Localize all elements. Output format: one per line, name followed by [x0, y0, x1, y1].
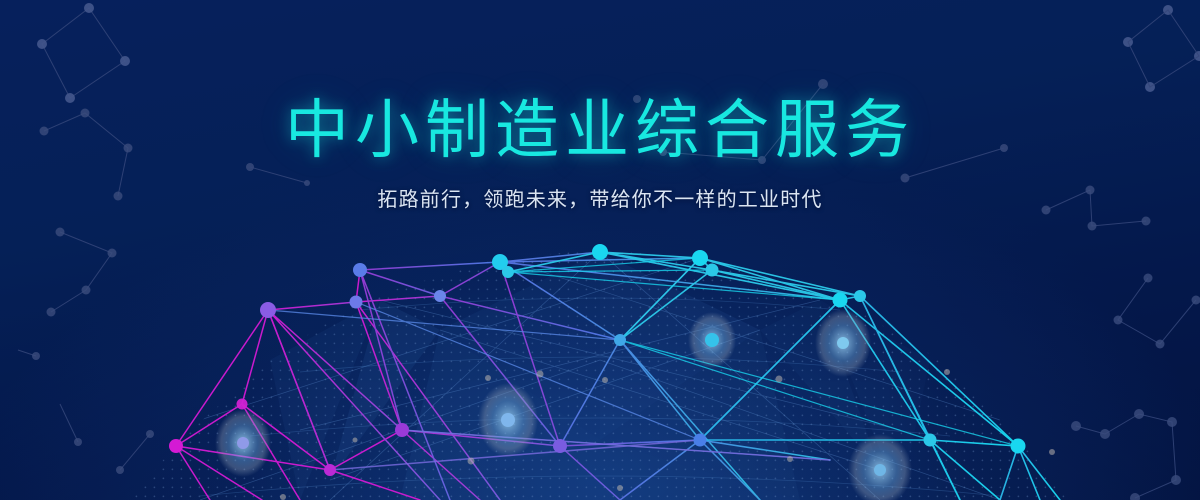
- edges-right-cyan: [508, 252, 1060, 500]
- hero-banner: .cl{stroke:#35477a;stroke-width:1;fill:n…: [0, 0, 1200, 500]
- network-graphic: [0, 0, 1200, 500]
- halo-nodes: [215, 309, 912, 500]
- speckles: [280, 369, 1055, 500]
